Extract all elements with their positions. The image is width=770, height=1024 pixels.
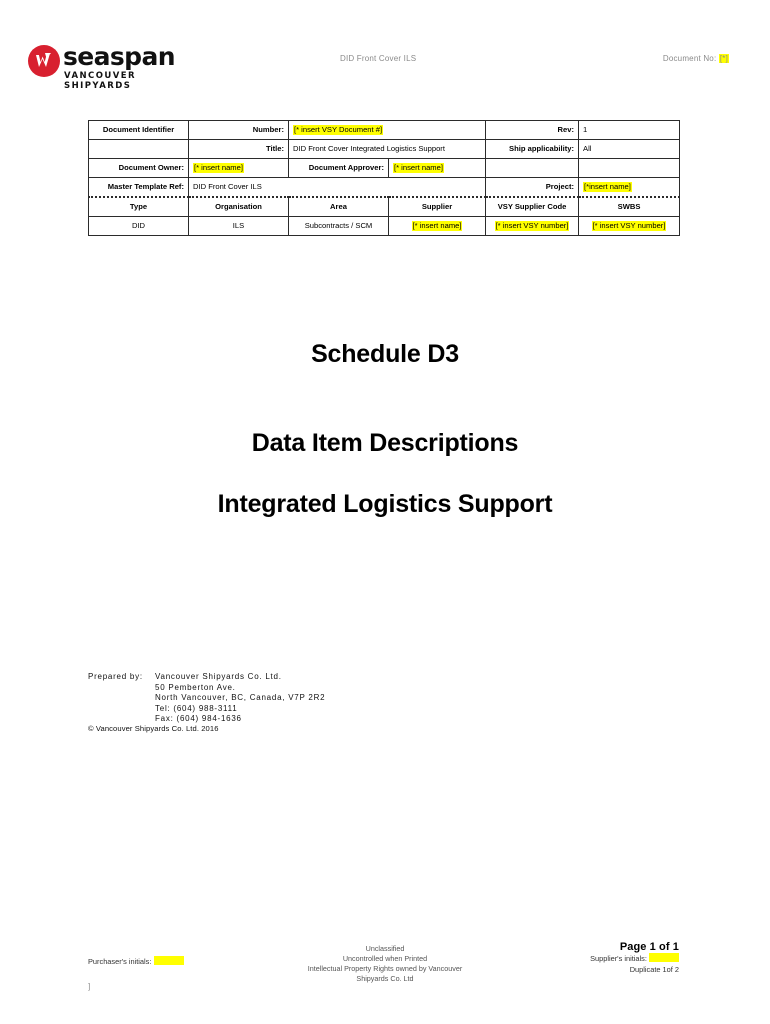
supplier-initials-field[interactable] — [649, 953, 679, 962]
table-cell: ILS — [189, 217, 289, 236]
table-cell: Master Template Ref: — [89, 178, 189, 198]
placeholder-highlight: [* insert VSY number] — [495, 221, 570, 231]
table-cell: Document Approver: — [289, 159, 389, 178]
table-cell: Document Identifier — [89, 121, 189, 140]
table-row: Document Owner:[* insert name]Document A… — [89, 159, 680, 178]
seaspan-wordmark: seaspan — [63, 44, 175, 70]
table-cell: Number: — [189, 121, 289, 140]
address-street: 50 Pemberton Ave. — [155, 683, 325, 694]
footer-page-info: Page 1 of 1 Supplier's initials: Duplica… — [590, 942, 679, 975]
table-cell — [486, 159, 579, 178]
table-cell[interactable]: [* insert name] — [189, 159, 289, 178]
placeholder-highlight: [* insert name] — [412, 221, 463, 231]
header-document-title: DID Front Cover ILS — [340, 54, 416, 63]
page-footer: Purchaser's initials: Unclassified Uncon… — [0, 940, 770, 1000]
subtitle-data-item-descriptions: Data Item Descriptions — [0, 429, 770, 458]
table-cell: Supplier — [389, 197, 486, 217]
schedule-title: Schedule D3 — [0, 340, 770, 369]
footer-ip-rights-line2: Shipyards Co. Ltd — [255, 974, 515, 984]
header-document-number: Document No: [*] — [663, 54, 729, 63]
table-row: TypeOrganisationAreaSupplierVSY Supplier… — [89, 197, 680, 217]
footer-classification: Unclassified — [255, 944, 515, 954]
table-row: Master Template Ref:DID Front Cover ILSP… — [89, 178, 680, 198]
table-row: Document IdentifierNumber:[* insert VSY … — [89, 121, 680, 140]
footer-ip-rights-line1: Intellectual Property Rights owned by Va… — [255, 964, 515, 974]
supplier-initials: Supplier's initials: — [590, 953, 679, 964]
table-cell: DID — [89, 217, 189, 236]
purchaser-initials: Purchaser's initials: — [88, 956, 184, 966]
table-cell: Subcontracts / SCM — [289, 217, 389, 236]
table-row: DIDILSSubcontracts / SCM[* insert name][… — [89, 217, 680, 236]
table-cell[interactable]: [* insert VSY number] — [486, 217, 579, 236]
footer-notice: Unclassified Uncontrolled when Printed I… — [255, 944, 515, 984]
header-document-number-value: [*] — [719, 54, 729, 63]
placeholder-highlight: [*insert name] — [583, 182, 632, 192]
address-tel: Tel: (604) 988-3111 — [155, 704, 325, 715]
table-cell: Type — [89, 197, 189, 217]
header-document-number-label: Document No: — [663, 54, 717, 63]
placeholder-highlight: [* insert VSY number] — [592, 221, 667, 231]
table-cell[interactable]: [* insert VSY Document #] — [289, 121, 486, 140]
duplicate-label: Duplicate 1of 2 — [590, 964, 679, 975]
table-cell: 1 — [579, 121, 680, 140]
purchaser-initials-label: Purchaser's initials: — [88, 957, 151, 966]
table-cell: DID Front Cover ILS — [189, 178, 486, 198]
table-cell: Title: — [189, 140, 289, 159]
table-cell: All — [579, 140, 680, 159]
seaspan-tagline: VANCOUVER SHIPYARDS — [64, 71, 188, 91]
table-row: Title:DID Front Cover Integrated Logisti… — [89, 140, 680, 159]
table-cell — [89, 140, 189, 159]
prepared-by-block: Prepared by: Vancouver Shipyards Co. Ltd… — [88, 672, 325, 725]
table-cell: Project: — [486, 178, 579, 198]
address-city: North Vancouver, BC, Canada, V7P 2R2 — [155, 693, 325, 704]
placeholder-highlight: [* insert VSY Document #] — [293, 125, 383, 135]
table-cell[interactable]: [* insert VSY number] — [579, 217, 680, 236]
table-cell: Ship applicability: — [486, 140, 579, 159]
footer-uncontrolled: Uncontrolled when Printed — [255, 954, 515, 964]
address-company: Vancouver Shipyards Co. Ltd. — [155, 672, 325, 683]
page-header: seaspan VANCOUVER SHIPYARDS DID Front Co… — [0, 40, 770, 90]
table-cell[interactable]: [* insert name] — [389, 159, 486, 178]
table-cell — [579, 159, 680, 178]
supplier-initials-label: Supplier's initials: — [590, 954, 647, 963]
table-cell: Document Owner: — [89, 159, 189, 178]
table-cell: SWBS — [579, 197, 680, 217]
seaspan-logo: seaspan VANCOUVER SHIPYARDS — [28, 43, 188, 87]
prepared-by-address: Vancouver Shipyards Co. Ltd. 50 Pemberto… — [155, 672, 325, 725]
purchaser-initials-field[interactable] — [154, 956, 184, 965]
table-cell[interactable]: [*insert name] — [579, 178, 680, 198]
copyright-line: © Vancouver Shipyards Co. Ltd. 2016 — [88, 724, 219, 733]
table-cell: VSY Supplier Code — [486, 197, 579, 217]
title-block: Schedule D3 Data Item Descriptions Integ… — [0, 340, 770, 519]
table-cell: DID Front Cover Integrated Logistics Sup… — [289, 140, 486, 159]
document-identifier-table-body: Document IdentifierNumber:[* insert VSY … — [89, 121, 680, 236]
table-cell: Rev: — [486, 121, 579, 140]
table-cell: Organisation — [189, 197, 289, 217]
stray-bracket-mark: ] — [88, 982, 90, 991]
subtitle-integrated-logistics-support: Integrated Logistics Support — [0, 490, 770, 519]
table-cell[interactable]: [* insert name] — [389, 217, 486, 236]
placeholder-highlight: [* insert name] — [393, 163, 444, 173]
seaspan-logo-icon — [28, 45, 60, 77]
table-cell: Area — [289, 197, 389, 217]
placeholder-highlight: [* insert name] — [193, 163, 244, 173]
page-number: Page 1 of 1 — [590, 942, 679, 953]
prepared-by-label: Prepared by: — [88, 672, 143, 683]
document-identifier-table: Document IdentifierNumber:[* insert VSY … — [88, 120, 680, 236]
document-page: seaspan VANCOUVER SHIPYARDS DID Front Co… — [0, 0, 770, 1024]
